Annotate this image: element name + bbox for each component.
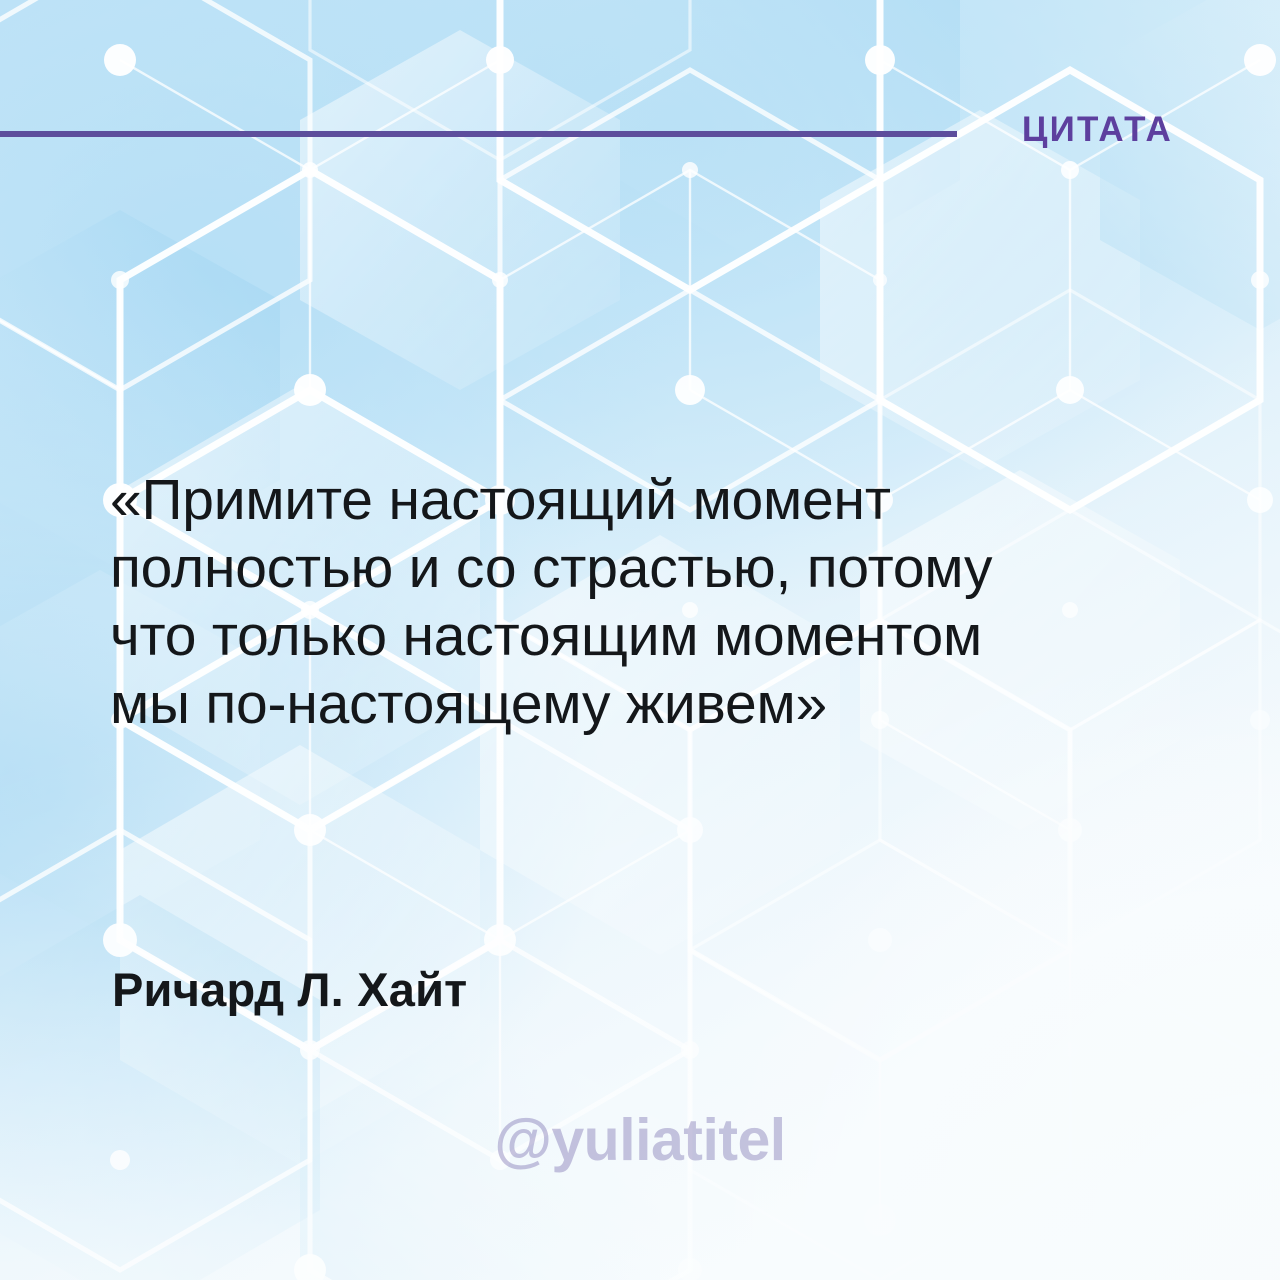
quote-text: «Примите настоящий момент полностью и со… [110, 466, 1200, 738]
header-rule-divider [0, 131, 957, 137]
quote-line-4: мы по-настоящему живем» [110, 670, 1200, 738]
header-label: ЦИТАТА [1022, 112, 1173, 147]
quote-card: ЦИТАТА «Примите настоящий момент полност… [0, 0, 1280, 1280]
quote-line-3: что только настоящим моментом [110, 602, 1200, 670]
watermark-handle: @yuliatitel [0, 1106, 1280, 1174]
quote-line-1: «Примите настоящий момент [110, 466, 1200, 534]
quote-line-2: полностью и со страстью, потому [110, 534, 1200, 602]
quote-author-name: Ричард Л. Хайт [112, 962, 467, 1017]
